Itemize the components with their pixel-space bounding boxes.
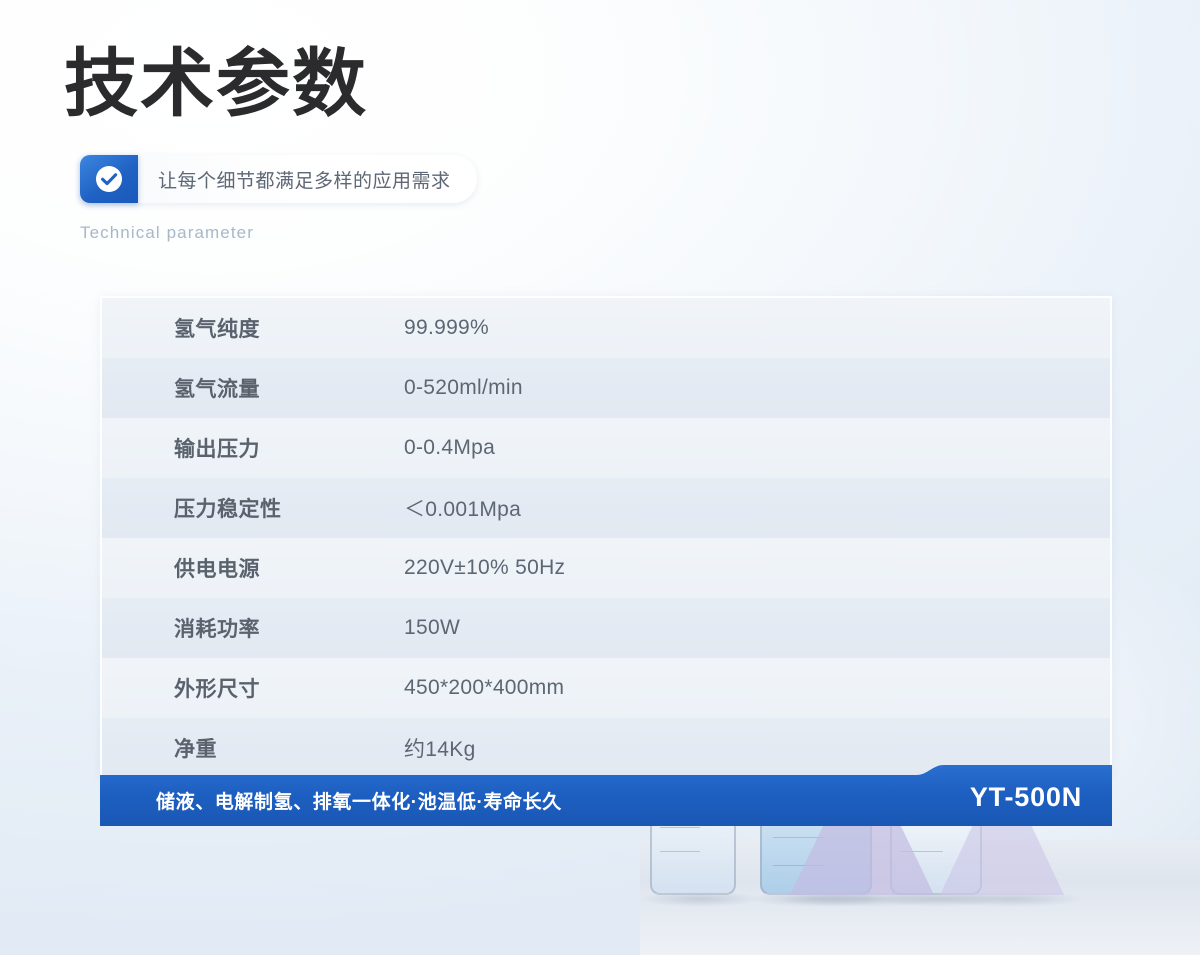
spec-value: 150W: [404, 616, 460, 640]
spec-value: 450*200*400mm: [404, 676, 564, 700]
footer-tagline: 储液、电解制氢、排氧一体化·池温低·寿命长久: [156, 765, 562, 826]
page-title: 技术参数: [64, 47, 368, 121]
spec-label: 净重: [174, 733, 404, 763]
table-row: 压力稳定性 ＜0.001Mpa: [102, 478, 1110, 538]
table-row: 外形尺寸 450*200*400mm: [102, 658, 1110, 718]
flask-shadow: [780, 891, 950, 907]
table-row: 消耗功率 150W: [102, 598, 1110, 658]
product-model-badge: YT-500N: [970, 765, 1082, 826]
bench-surface: [640, 840, 1200, 955]
flask-shadow: [935, 891, 1085, 907]
spec-table: 氢气纯度 99.999% 氢气流量 0-520ml/min 输出压力 0-0.4…: [100, 296, 1112, 778]
spec-label: 氢气纯度: [174, 313, 404, 343]
spec-value: 约14Kg: [404, 733, 476, 763]
spec-label: 压力稳定性: [174, 493, 404, 523]
footer-banner: 储液、电解制氢、排氧一体化·池温低·寿命长久 YT-500N: [100, 765, 1112, 826]
spec-value: 0-520ml/min: [404, 376, 523, 400]
eyebrow-english-label: Technical parameter: [80, 223, 254, 243]
spec-label: 供电电源: [174, 553, 404, 583]
table-row: 输出压力 0-0.4Mpa: [102, 418, 1110, 478]
spec-label: 消耗功率: [174, 613, 404, 643]
beaker-shadow: [640, 891, 760, 907]
spec-value: 0-0.4Mpa: [404, 436, 495, 460]
spec-value: ＜0.001Mpa: [404, 493, 521, 523]
spec-label: 输出压力: [174, 433, 404, 463]
table-row: 氢气纯度 99.999%: [102, 298, 1110, 358]
spec-label: 氢气流量: [174, 373, 404, 403]
spec-value: 220V±10% 50Hz: [404, 556, 565, 580]
beaker-shadow: [748, 891, 888, 907]
table-row: 供电电源 220V±10% 50Hz: [102, 538, 1110, 598]
technical-parameter-page: 技术参数 让每个细节都满足多样的应用需求 Technical parameter…: [0, 0, 1200, 955]
check-circle-icon: [80, 155, 138, 203]
table-row: 氢气流量 0-520ml/min: [102, 358, 1110, 418]
spec-label: 外形尺寸: [174, 673, 404, 703]
subtitle-text: 让每个细节都满足多样的应用需求: [138, 166, 451, 193]
beaker-shadow: [880, 891, 1000, 907]
spec-value: 99.999%: [404, 316, 489, 340]
subtitle-pill: 让每个细节都满足多样的应用需求: [80, 155, 477, 203]
